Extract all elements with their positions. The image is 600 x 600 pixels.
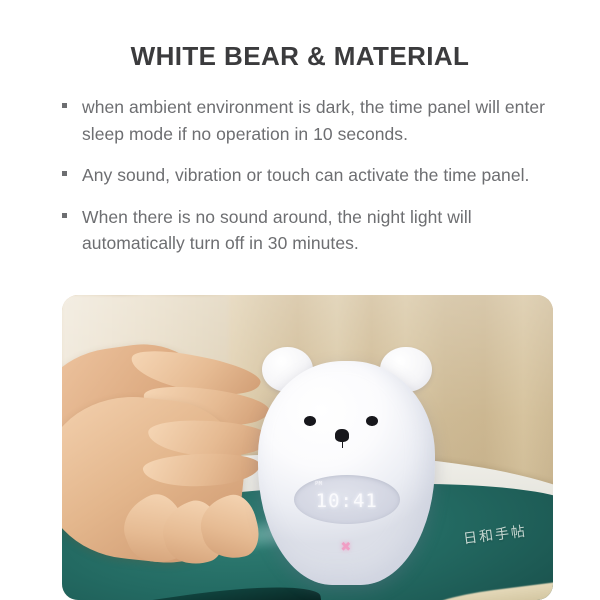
feature-bullet-list: when ambient environment is dark, the ti… [56,94,556,272]
bear-night-light: PM 10:41 ✖ [258,347,435,585]
page-title: WHITE BEAR & MATERIAL [0,41,600,72]
power-button-icon[interactable]: ✖ [338,540,354,553]
bear-eye-left [304,416,316,426]
product-photo: 日和手帖 PM 10:41 [62,295,553,600]
clock-display-panel: PM 10:41 [294,475,400,524]
clock-meridiem: PM [315,481,322,487]
product-detail-page: WHITE BEAR & MATERIAL when ambient envir… [0,0,600,600]
bear-eye-right [366,416,378,426]
bear-body: PM 10:41 ✖ [258,361,435,585]
list-item: When there is no sound around, the night… [56,204,556,257]
clock-time: 10:41 [294,490,400,512]
square-bullet-icon [62,213,67,218]
square-bullet-icon [62,103,67,108]
list-item: when ambient environment is dark, the ti… [56,94,556,147]
bear-nose [335,429,349,441]
square-bullet-icon [62,171,67,176]
list-item-text: When there is no sound around, the night… [82,207,472,254]
book-cover-text: 日和手帖 [461,520,527,548]
book-page-edge [419,576,553,600]
clapping-hands [62,338,288,570]
list-item-text: Any sound, vibration or touch can activa… [82,165,529,185]
list-item: Any sound, vibration or touch can activa… [56,162,556,189]
list-item-text: when ambient environment is dark, the ti… [82,97,545,144]
